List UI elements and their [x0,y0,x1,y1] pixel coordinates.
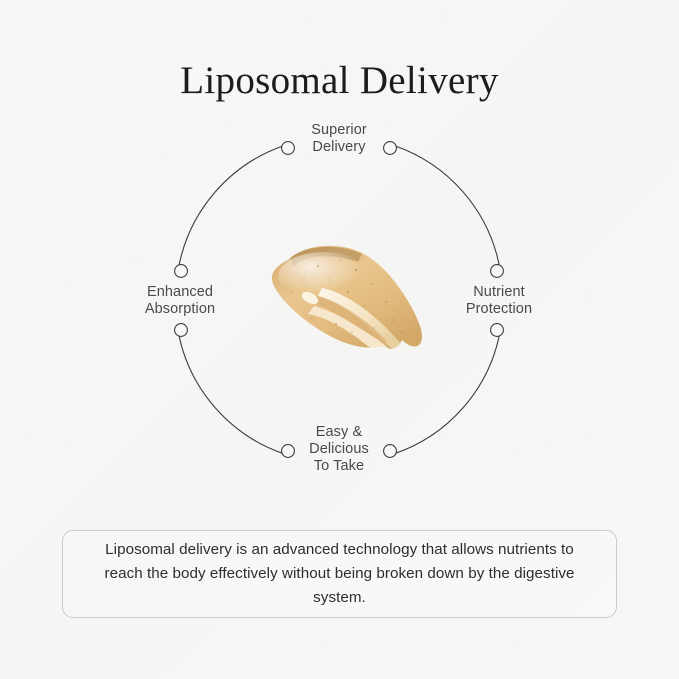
product-swatch-image [252,236,438,358]
label-superior-delivery: Superior Delivery [269,122,409,156]
description-box: Liposomal delivery is an advanced techno… [62,530,617,618]
label-enhanced-absorption: Enhanced Absorption [110,284,250,318]
node-right-lower-icon [491,324,504,337]
label-easy-delicious-to-take: Easy & Delicious To Take [269,424,409,475]
swatch-svg [252,236,438,358]
description-text: Liposomal delivery is an advanced techno… [63,538,616,610]
node-right-upper-icon [491,265,504,278]
swatch-sheen [278,252,370,300]
node-left-lower-icon [175,324,188,337]
label-nutrient-protection: Nutrient Protection [429,284,569,318]
node-left-upper-icon [175,265,188,278]
